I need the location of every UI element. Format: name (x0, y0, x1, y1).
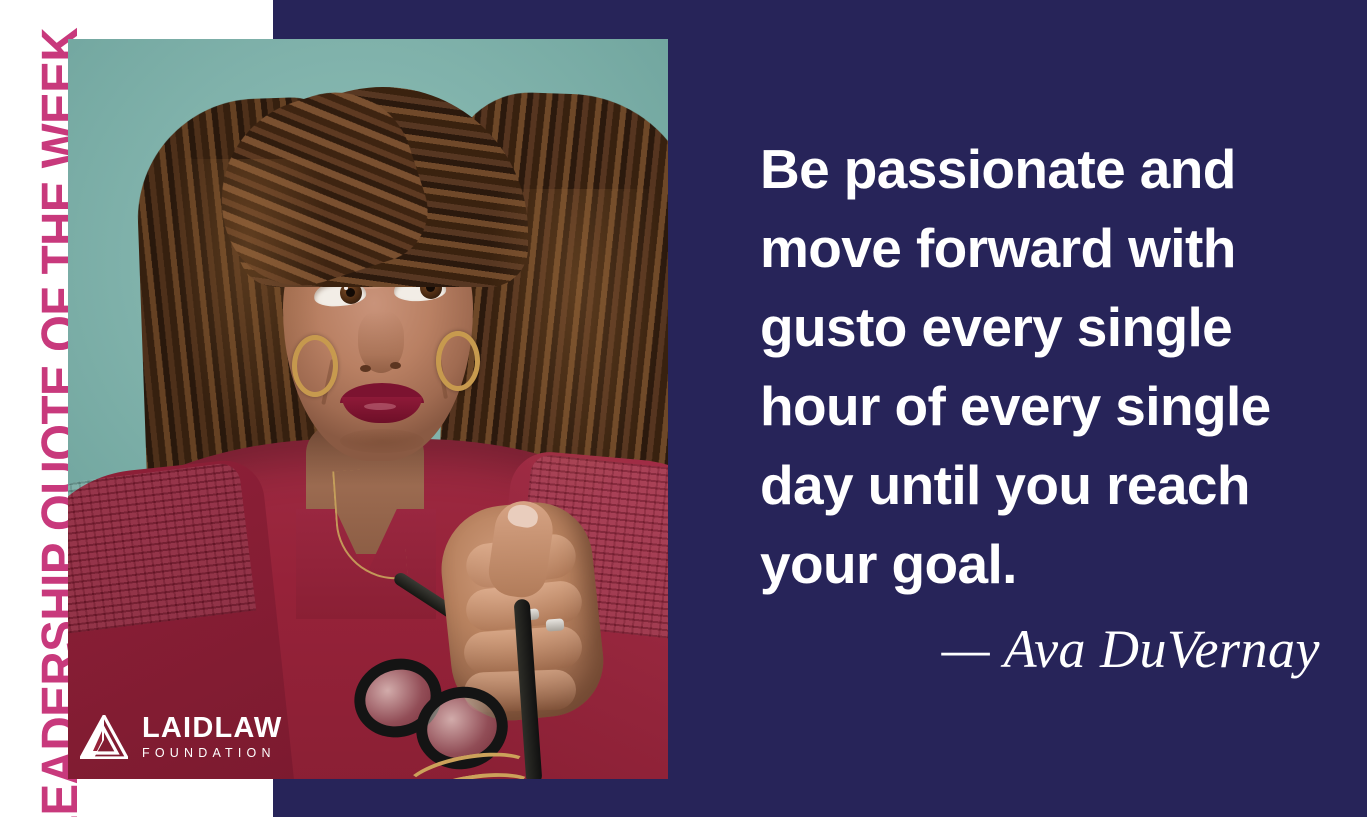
ring-2 (546, 618, 565, 631)
laidlaw-triangle-mark (80, 715, 128, 759)
lip-highlight (364, 403, 396, 410)
attribution-name: Ava DuVernay (1004, 619, 1320, 679)
hoop-earring-right (436, 331, 480, 391)
chin-shadow (340, 429, 424, 453)
laidlaw-logo-text: LAIDLAW FOUNDATION (142, 714, 283, 760)
laidlaw-foundation-logo: LAIDLAW FOUNDATION (80, 714, 283, 760)
quote-card: LEADERSHIP QUOTE OF THE WEEK (0, 0, 1367, 817)
quote-attribution: —Ava DuVernay (760, 618, 1320, 680)
laidlaw-logo-main: LAIDLAW (142, 714, 283, 743)
quote-text: Be passionate and move forward with gust… (760, 130, 1320, 604)
nostril-left (360, 365, 371, 372)
portrait-photo (68, 39, 668, 779)
hoop-earring-left (292, 335, 338, 397)
nostril-right (390, 362, 401, 369)
attribution-dash: — (942, 619, 988, 679)
quote-block: Be passionate and move forward with gust… (760, 130, 1320, 604)
blouse-smocking-left (68, 461, 256, 636)
laidlaw-logo-sub: FOUNDATION (142, 747, 283, 760)
